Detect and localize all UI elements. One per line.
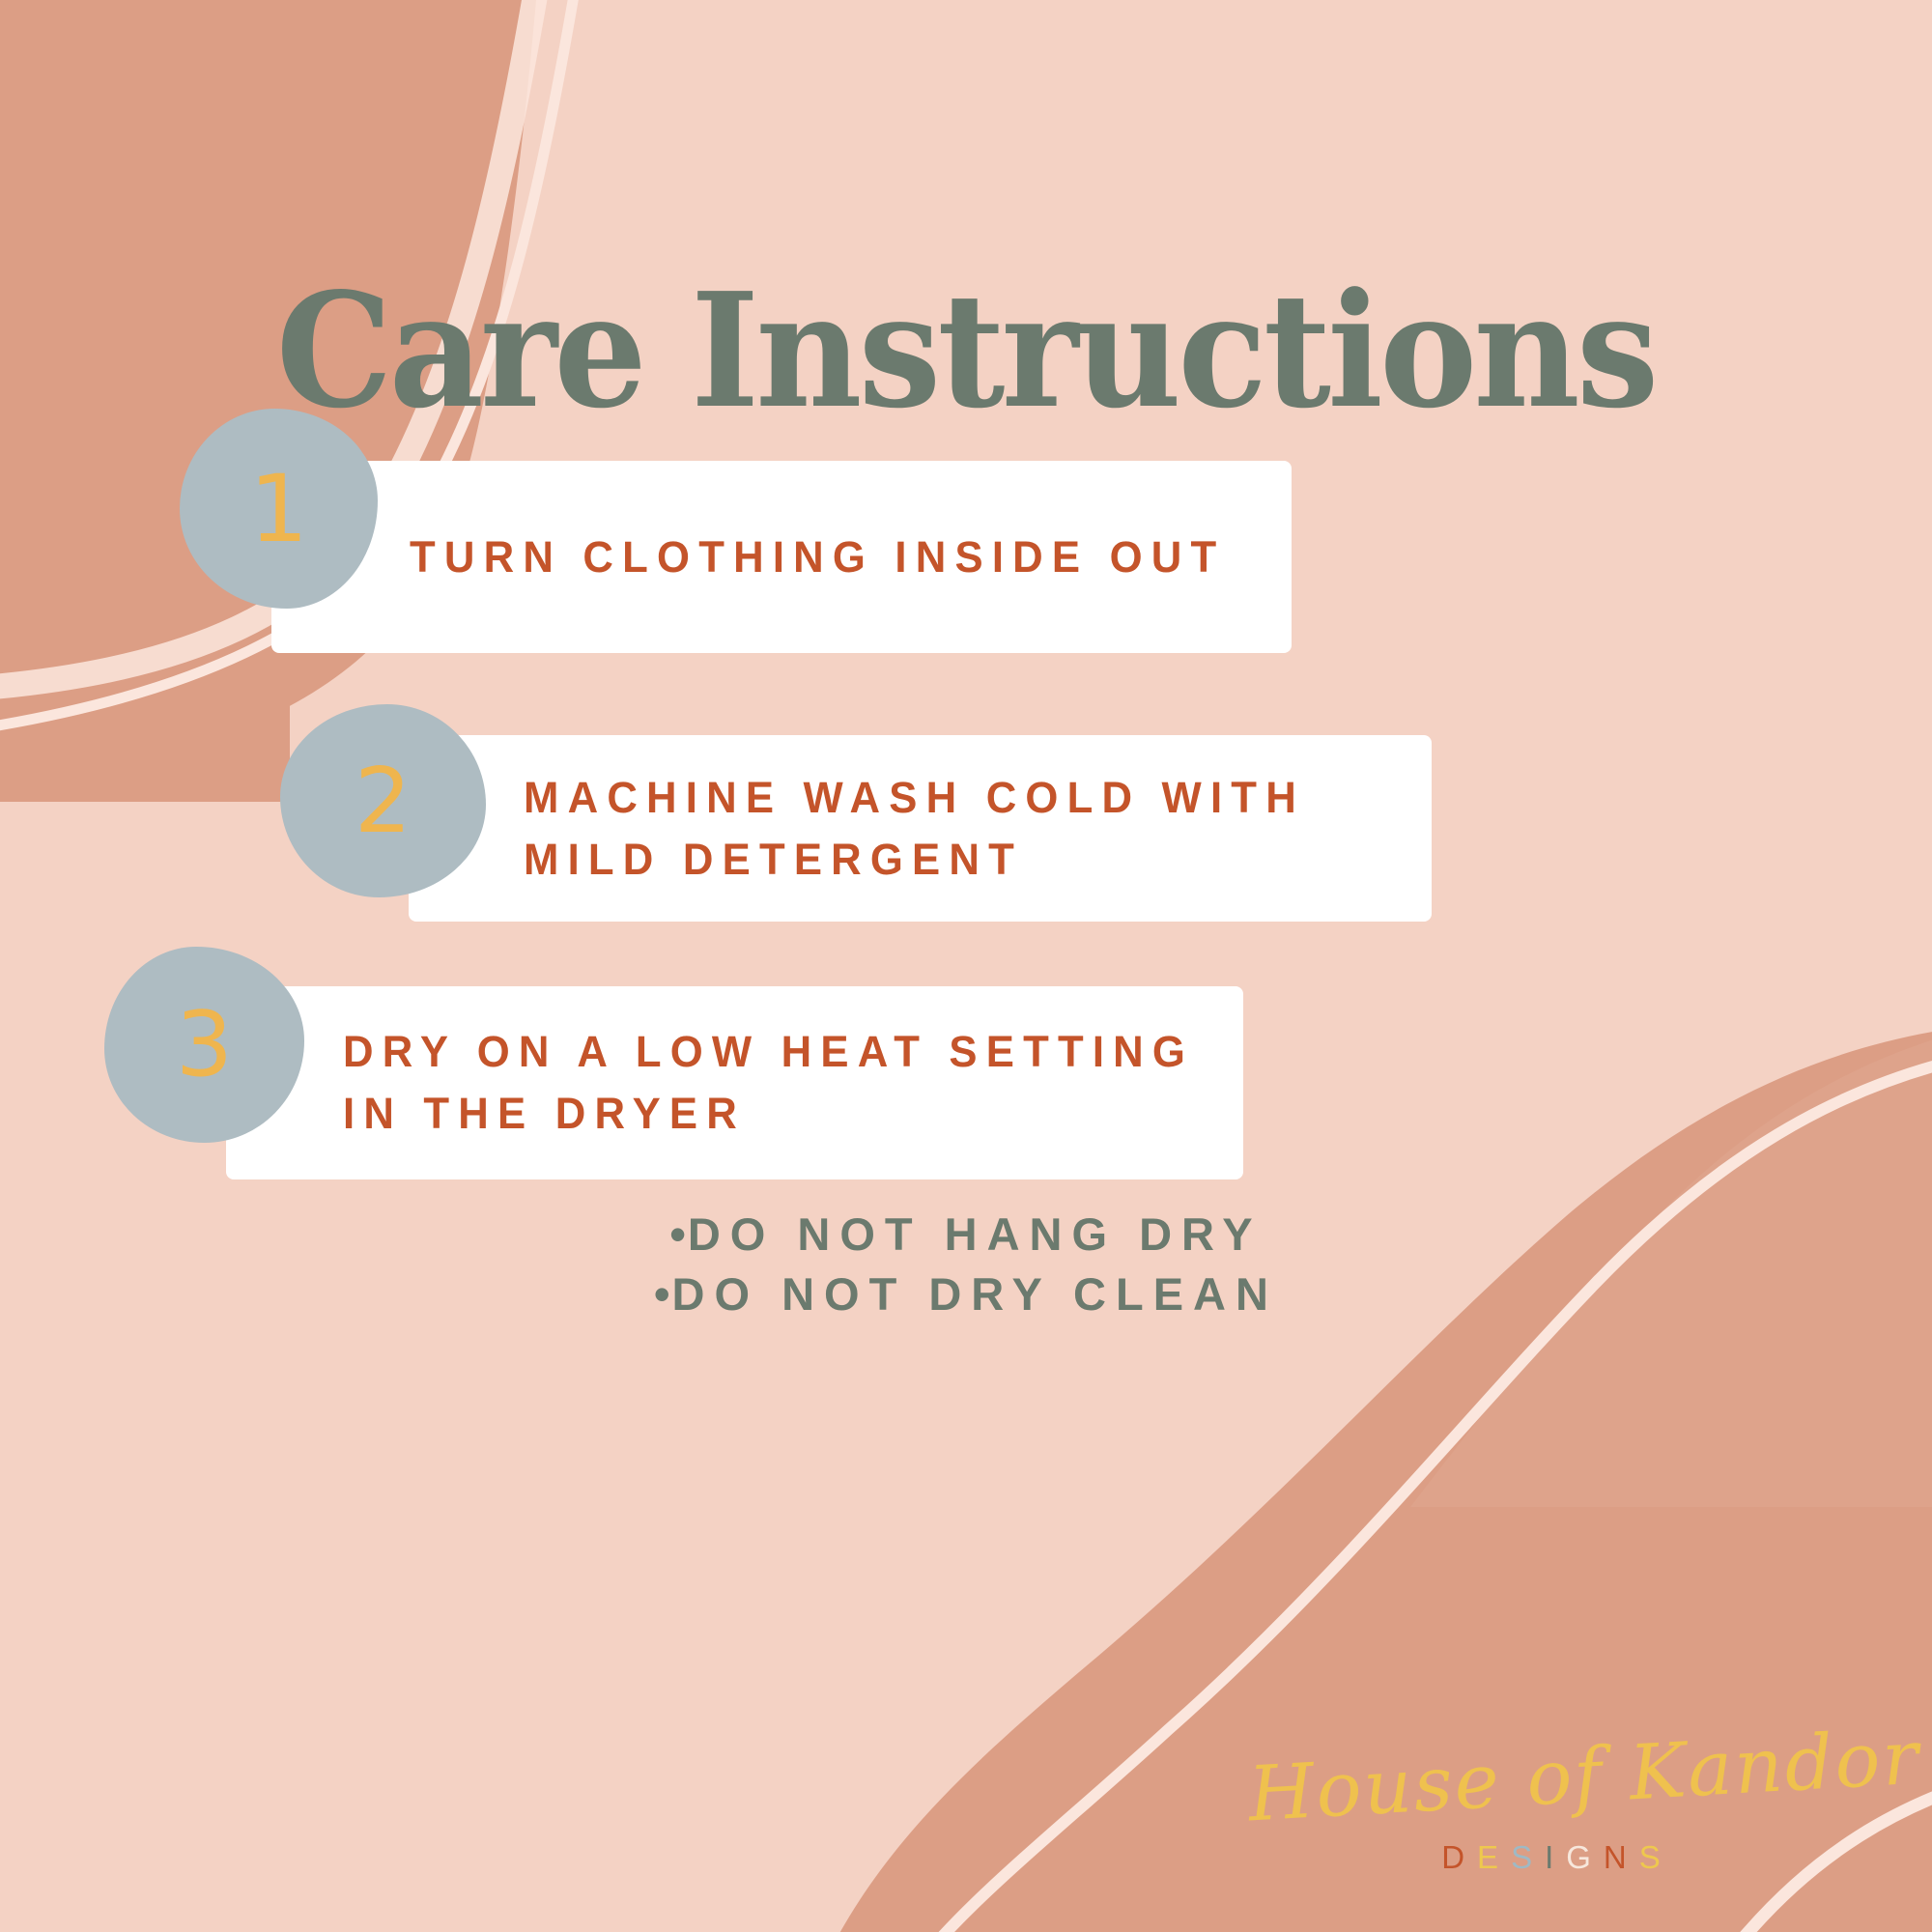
bullet-item-2-label: DO NOT DRY CLEAN [672, 1268, 1278, 1320]
step-3-line-1: DRY ON A LOW HEAT SETTING [343, 1021, 1194, 1083]
brand-subtitle-letter-7: S [1639, 1839, 1673, 1876]
step-1-number: 1 [249, 463, 308, 555]
bullet-item-1-label: DO NOT HANG DRY [688, 1208, 1263, 1260]
brand-subtitle-letter-6: N [1604, 1839, 1639, 1876]
step-1-card: TURN CLOTHING INSIDE OUT [271, 461, 1292, 653]
bullet-item-2: •DO NOT DRY CLEAN [0, 1264, 1932, 1324]
page-title-text: Care Instructions [276, 276, 1656, 427]
step-3-card: DRY ON A LOW HEAT SETTING IN THE DRYER [226, 986, 1243, 1179]
step-2-card: MACHINE WASH COLD WITH MILD DETERGENT [409, 735, 1432, 922]
step-3-number: 3 [176, 1000, 233, 1090]
step-1-line-1: TURN CLOTHING INSIDE OUT [410, 526, 1225, 588]
brand-subtitle: DESIGNS [1248, 1839, 1866, 1876]
brand-subtitle-letter-4: I [1545, 1839, 1566, 1876]
step-2-line-1: MACHINE WASH COLD WITH [524, 767, 1305, 829]
bullet-marker-icon: • [669, 1208, 685, 1260]
warning-bullet-list: •DO NOT HANG DRY •DO NOT DRY CLEAN [0, 1205, 1932, 1324]
brand-subtitle-letter-1: D [1441, 1839, 1477, 1876]
step-1-number-blob: 1 [180, 409, 378, 609]
care-instructions-poster: Care Instructions TURN CLOTHING INSIDE O… [0, 0, 1932, 1932]
bullet-marker-icon: • [654, 1268, 669, 1320]
step-3-number-blob: 3 [104, 947, 304, 1143]
step-2-number-blob: 2 [280, 704, 486, 897]
step-2-line-2: MILD DETERGENT [524, 829, 1305, 891]
brand-subtitle-letter-5: G [1566, 1839, 1604, 1876]
step-1-text: TURN CLOTHING INSIDE OUT [410, 526, 1225, 588]
brand-logo: House of Kandor DESIGNS [1248, 1739, 1866, 1876]
brand-script-wrap: House of Kandor [1248, 1739, 1866, 1814]
step-2-number: 2 [355, 756, 412, 846]
page-title: Care Instructions [0, 276, 1932, 427]
step-3-line-2: IN THE DRYER [343, 1083, 1194, 1145]
brand-subtitle-letter-3: S [1511, 1839, 1545, 1876]
brand-subtitle-letter-2: E [1477, 1839, 1511, 1876]
step-3-text: DRY ON A LOW HEAT SETTING IN THE DRYER [343, 1021, 1194, 1145]
bullet-item-1: •DO NOT HANG DRY [0, 1205, 1932, 1264]
step-2-text: MACHINE WASH COLD WITH MILD DETERGENT [524, 767, 1305, 891]
